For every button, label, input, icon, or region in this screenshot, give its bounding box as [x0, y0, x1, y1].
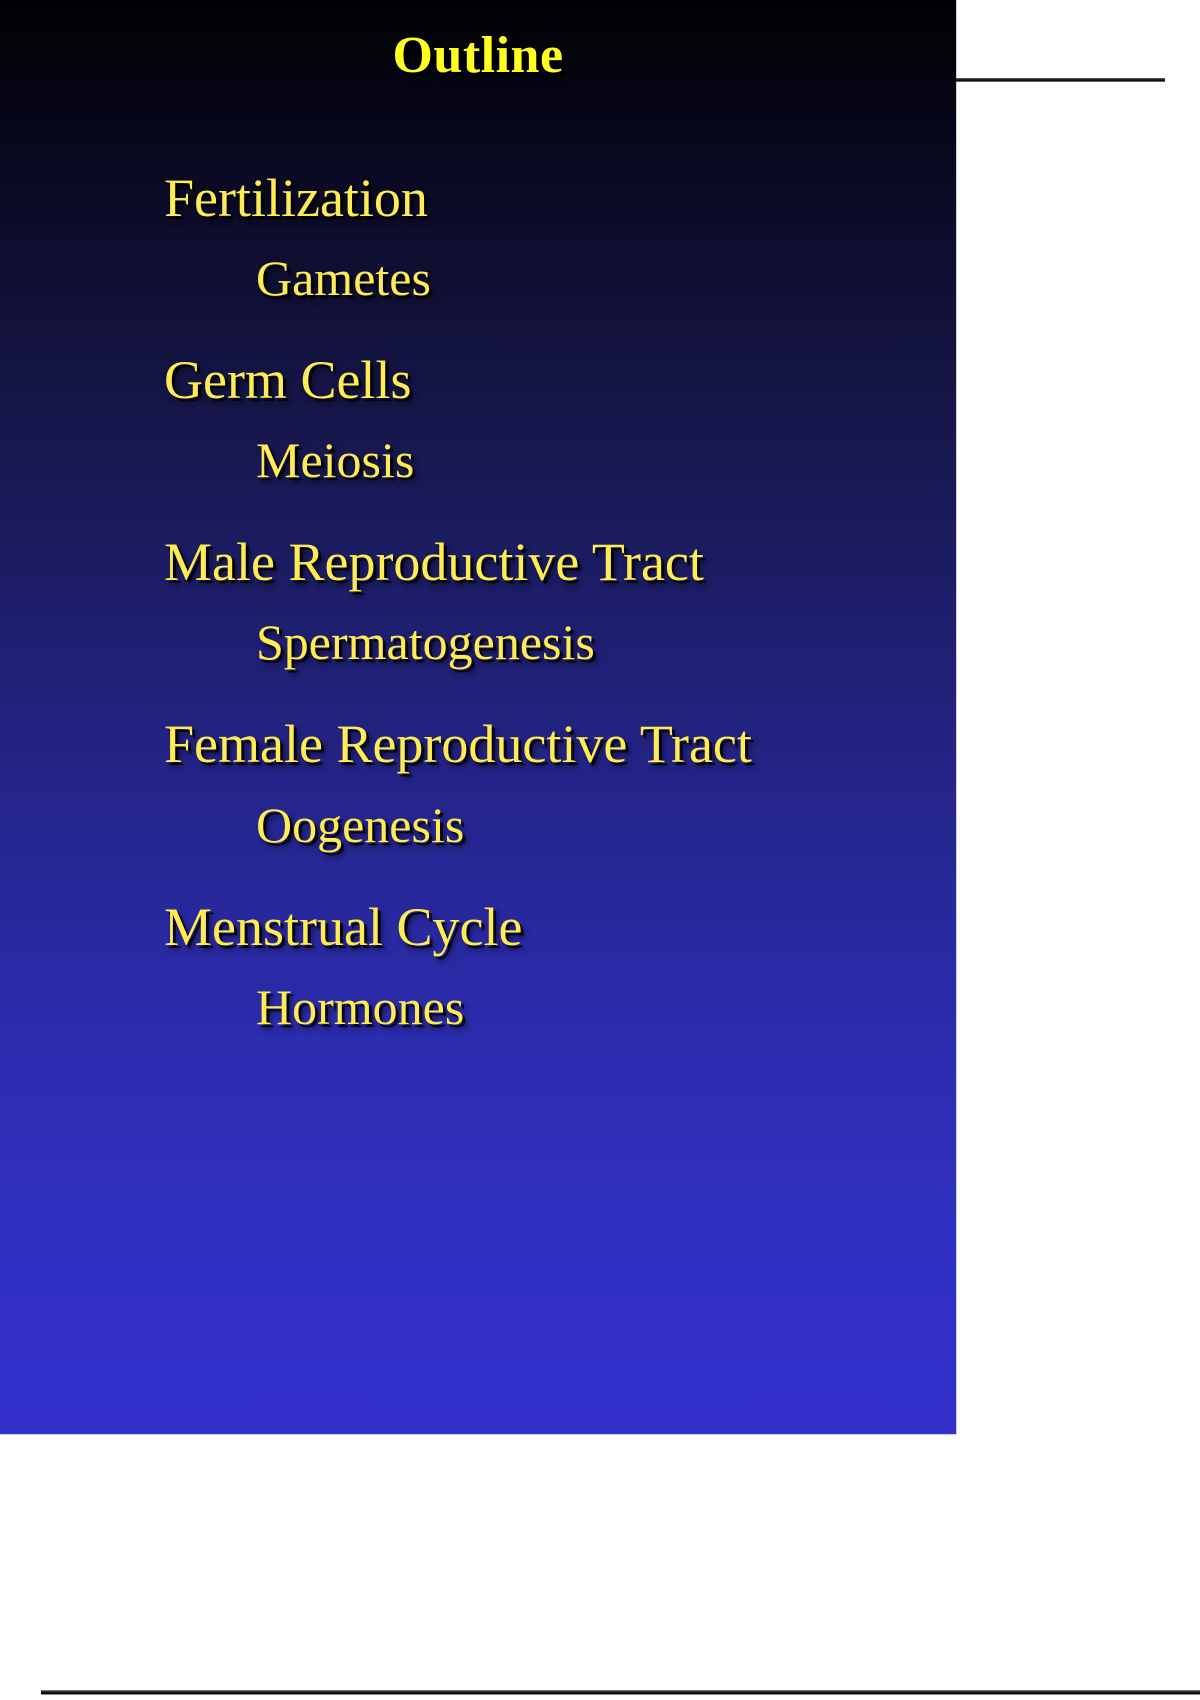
outline-group: Fertilization Gametes	[0, 170, 956, 304]
outline-subitem-spermatogenesis: Spermatogenesis	[256, 616, 956, 668]
outline-heading-male-reproductive-tract: Male Reproductive Tract	[164, 534, 956, 590]
outline-heading-germ-cells: Germ Cells	[164, 352, 956, 408]
outline-heading-fertilization: Fertilization	[164, 170, 956, 226]
outline-subitem-oogenesis: Oogenesis	[256, 799, 956, 851]
slide-title: Outline	[0, 30, 956, 82]
horizontal-rule-bottom	[41, 1690, 1200, 1695]
outline-group: Female Reproductive Tract Oogenesis	[0, 716, 956, 850]
outline-subitem-hormones: Hormones	[256, 981, 956, 1033]
slide-outline-list: Fertilization Gametes Germ Cells Meiosis…	[0, 170, 956, 1033]
outline-heading-female-reproductive-tract: Female Reproductive Tract	[164, 716, 956, 772]
outline-group: Germ Cells Meiosis	[0, 352, 956, 486]
outline-group: Menstrual Cycle Hormones	[0, 899, 956, 1033]
horizontal-rule-top	[956, 78, 1165, 82]
outline-group: Male Reproductive Tract Spermatogenesis	[0, 534, 956, 668]
presentation-slide: Outline Fertilization Gametes Germ Cells…	[0, 0, 956, 1434]
document-page: Outline Fertilization Gametes Germ Cells…	[0, 0, 1200, 1700]
outline-subitem-gametes: Gametes	[256, 252, 956, 304]
outline-heading-menstrual-cycle: Menstrual Cycle	[164, 899, 956, 955]
outline-subitem-meiosis: Meiosis	[256, 434, 956, 486]
